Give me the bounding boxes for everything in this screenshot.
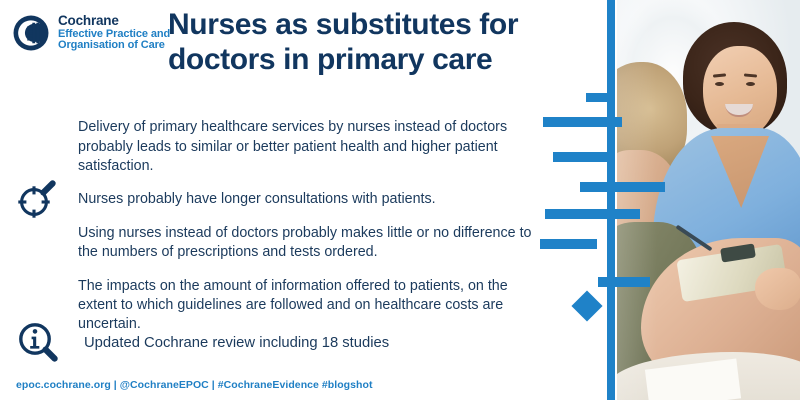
brand-name: Cochrane [58, 14, 170, 29]
blogshot-infographic: Cochrane Effective Practice and Organisa… [0, 0, 800, 400]
cochrane-logo-icon [12, 14, 50, 52]
brand-group-line-2: Organisation of Care [58, 40, 170, 52]
forest-plot-bar-1 [586, 93, 610, 102]
target-magnifier-icon [16, 177, 60, 221]
nurse-consulting-patient-photo [617, 0, 800, 400]
updated-review-text: Updated Cochrane review including 18 stu… [84, 335, 389, 351]
cochrane-logo-text: Cochrane Effective Practice and Organisa… [58, 14, 170, 52]
cochrane-logo: Cochrane Effective Practice and Organisa… [12, 14, 170, 52]
forest-plot-bar-6 [540, 239, 597, 249]
key-finding-3: Using nurses instead of doctors probably… [78, 224, 540, 262]
key-finding-2: Nurses probably have longer consultation… [78, 190, 540, 209]
updated-review-row: Updated Cochrane review including 18 stu… [16, 320, 389, 366]
key-findings-list: Delivery of primary healthcare services … [78, 104, 540, 334]
forest-plot-summary-diamond [571, 290, 602, 321]
footer-links: epoc.cochrane.org | @CochraneEPOC | #Coc… [16, 379, 373, 391]
forest-plot-bar-3 [553, 152, 612, 162]
info-magnifier-icon [16, 320, 62, 366]
forest-plot-bar-2 [543, 117, 622, 127]
page-title: Nurses as substitutes for doctors in pri… [168, 8, 588, 78]
photo-edge-fade [617, 0, 800, 400]
forest-plot-axis-line [607, 0, 615, 400]
key-finding-1: Delivery of primary healthcare services … [78, 118, 540, 176]
